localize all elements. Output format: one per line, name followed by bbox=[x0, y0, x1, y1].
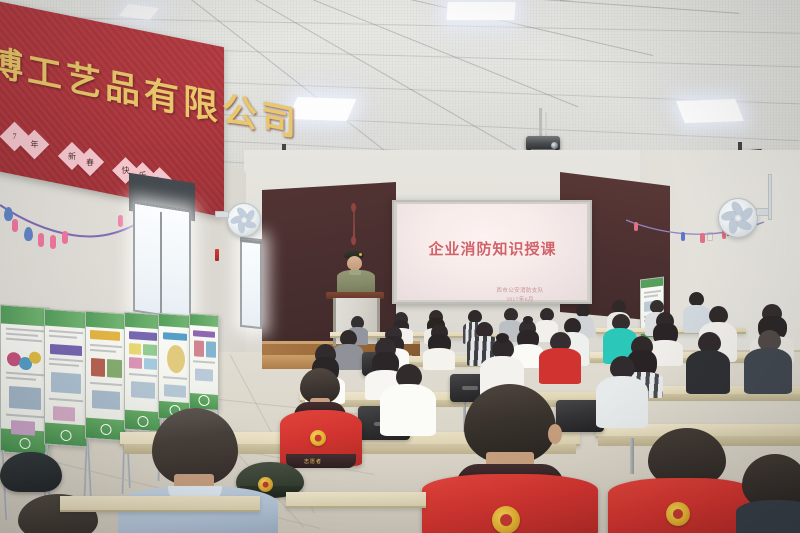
torso bbox=[539, 348, 581, 384]
attendee bbox=[424, 324, 454, 368]
window-mullion bbox=[160, 212, 162, 316]
extinguisher-marker bbox=[215, 249, 219, 261]
desk-front-row bbox=[286, 492, 426, 508]
balloon-garland-left bbox=[0, 185, 140, 255]
board-seal bbox=[199, 395, 210, 407]
torso bbox=[736, 500, 800, 533]
board-header bbox=[1, 305, 49, 326]
balloon bbox=[4, 207, 13, 221]
ear bbox=[548, 424, 562, 444]
bunting-flag: 年 bbox=[20, 130, 50, 160]
display-board bbox=[85, 311, 127, 442]
ceiling-panel-light bbox=[676, 99, 744, 123]
board-header bbox=[190, 314, 218, 327]
display-board bbox=[189, 313, 219, 411]
attendee bbox=[744, 330, 792, 392]
poster-header bbox=[641, 278, 663, 288]
training-room-photo: 博工艺品有限公司 7 年 新 春 快 乐 ！ bbox=[0, 0, 800, 533]
desk-front-row bbox=[60, 496, 260, 512]
balloon bbox=[62, 231, 68, 244]
board-header bbox=[86, 312, 126, 330]
balloon bbox=[50, 235, 56, 249]
board-header bbox=[125, 313, 161, 329]
fan-mount-post bbox=[768, 174, 772, 220]
attendee bbox=[686, 332, 730, 392]
balloon bbox=[24, 227, 33, 241]
board-seal bbox=[20, 437, 31, 449]
hair-bun bbox=[523, 316, 533, 324]
balloon bbox=[634, 222, 638, 231]
torso bbox=[686, 350, 730, 394]
hanging-ornament bbox=[351, 203, 356, 212]
balloon bbox=[118, 215, 123, 227]
wall-fan-left bbox=[227, 203, 263, 239]
vest-logo bbox=[492, 506, 520, 533]
beret-badge bbox=[359, 253, 362, 256]
balloon bbox=[700, 233, 705, 243]
balloon bbox=[12, 219, 18, 232]
wall-fan-right bbox=[718, 198, 762, 242]
attendee bbox=[540, 332, 580, 382]
attendee-foreground bbox=[742, 454, 800, 533]
bunting-flag-char: 年 bbox=[24, 134, 45, 155]
board-seal bbox=[61, 430, 72, 442]
fan-cage bbox=[718, 198, 758, 238]
fan-hub bbox=[241, 217, 247, 223]
window-right bbox=[240, 237, 262, 329]
ceiling-panel-light bbox=[446, 2, 515, 20]
attendee-volunteer: 志愿者 bbox=[278, 368, 364, 464]
fan-cage bbox=[227, 203, 261, 237]
vest-logo bbox=[310, 430, 326, 446]
attendee-volunteer-foreground bbox=[420, 384, 600, 533]
hanging-ornament bbox=[351, 236, 356, 245]
window-left bbox=[133, 201, 191, 320]
torso bbox=[596, 376, 648, 428]
bunting-flag: 春 bbox=[76, 148, 104, 176]
board-seal bbox=[101, 424, 112, 436]
vest-label: 志愿者 bbox=[304, 458, 322, 465]
display-board bbox=[44, 308, 88, 447]
hair-bun bbox=[496, 333, 509, 343]
uniform-collar bbox=[349, 270, 361, 275]
fan-hub bbox=[735, 215, 742, 222]
slide-title-text: 企业消防知识授课 bbox=[400, 238, 585, 259]
head bbox=[689, 292, 704, 306]
attendee bbox=[596, 356, 648, 426]
display-board bbox=[158, 313, 192, 421]
slide-subtitle-line1: 西市公安消防支队 bbox=[460, 286, 580, 294]
slide-subtitle-line2: 2017年6月 bbox=[460, 295, 580, 303]
board-header bbox=[45, 310, 87, 329]
balloon bbox=[38, 233, 44, 247]
display-board bbox=[0, 304, 50, 455]
bunting-flag-char: 春 bbox=[80, 152, 100, 172]
attendee-foreground bbox=[122, 408, 272, 533]
torso bbox=[744, 348, 792, 394]
vest-logo bbox=[666, 502, 690, 526]
projector-lens bbox=[551, 142, 558, 149]
fan-mount-arm bbox=[215, 211, 229, 218]
balloon bbox=[681, 232, 685, 241]
board-header bbox=[159, 314, 191, 329]
bag-on-desk bbox=[0, 452, 62, 492]
